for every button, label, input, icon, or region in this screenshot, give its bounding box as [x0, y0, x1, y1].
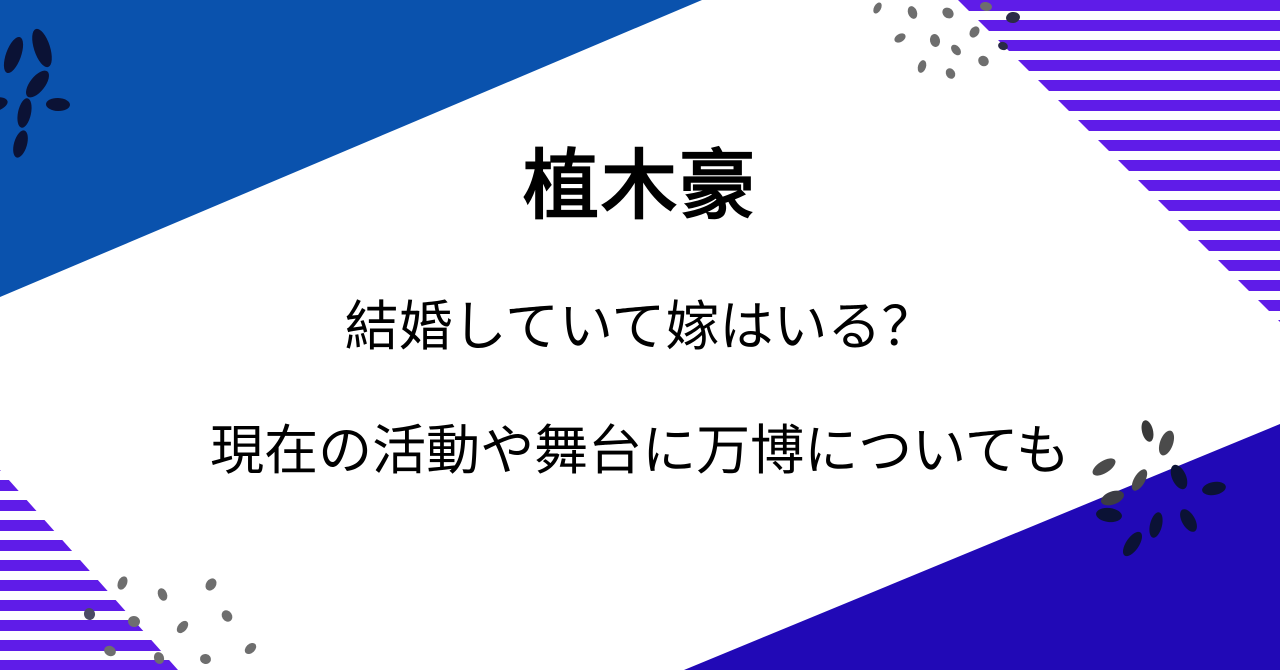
thumbnail-canvas: 植木豪 結婚していて嫁はいる？ 現在の活動や舞台に万博についても [0, 0, 1280, 670]
subtitle-line-1: 結婚していて嫁はいる？ [345, 300, 936, 354]
subtitle-line-2: 現在の活動や舞台に万博についても [210, 424, 1070, 478]
page-title: 植木豪 [523, 148, 757, 224]
text-block: 植木豪 結婚していて嫁はいる？ 現在の活動や舞台に万博についても [0, 0, 1280, 670]
